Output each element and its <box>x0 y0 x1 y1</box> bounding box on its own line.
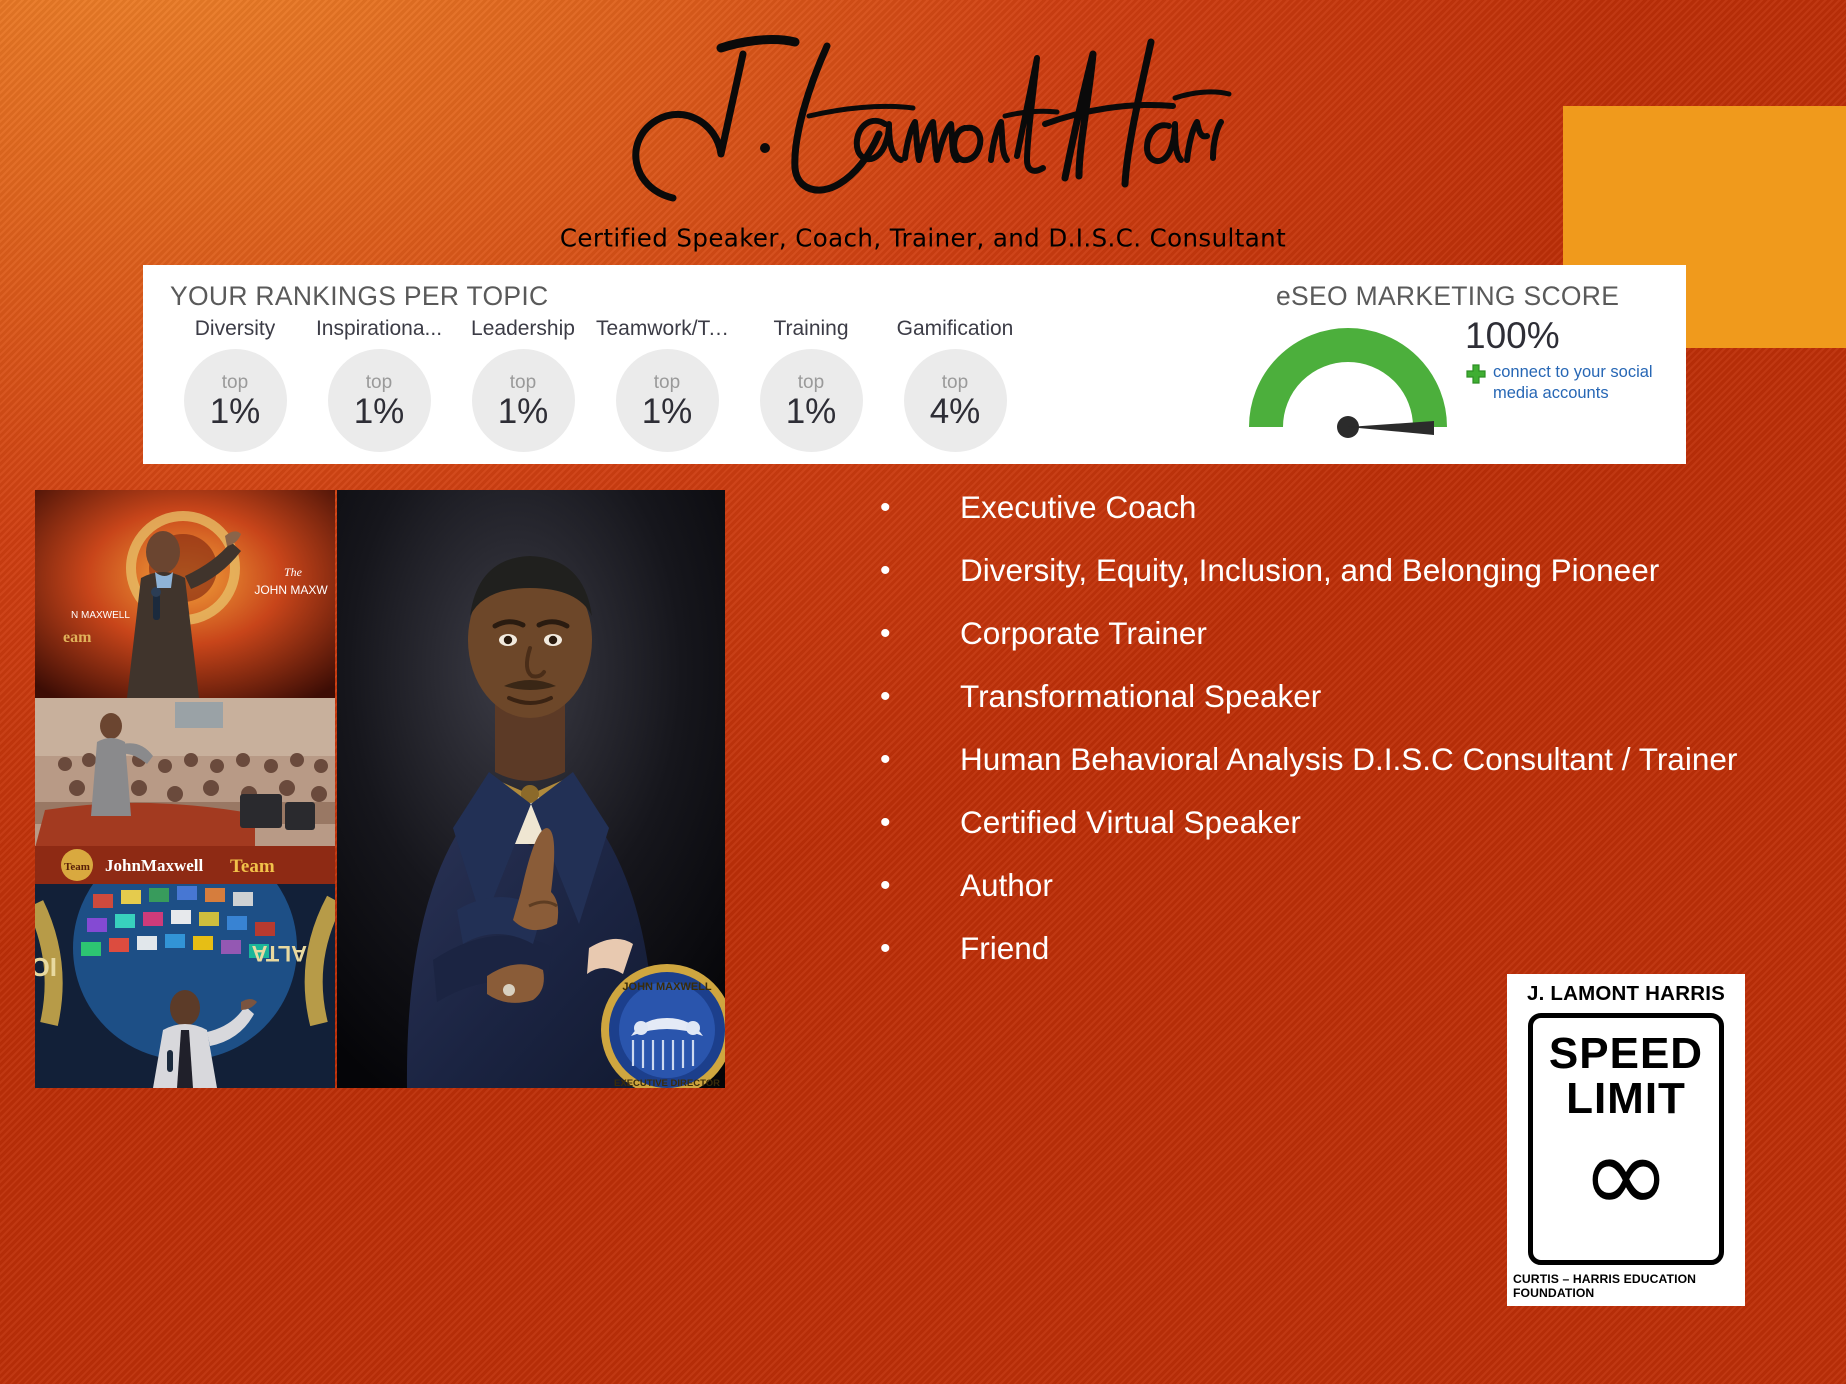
bullet-icon: • <box>880 730 960 789</box>
bullet-icon: • <box>880 919 960 978</box>
topic-value: 1% <box>786 394 837 429</box>
topic-prefix: top <box>222 373 248 392</box>
plus-icon <box>1465 364 1487 386</box>
header-subtitle: Certified Speaker, Coach, Trainer, and D… <box>560 224 1286 253</box>
infinity-icon: ∞ <box>1581 1126 1671 1225</box>
topic-prefix: top <box>798 373 824 392</box>
topic-label: Training <box>773 317 848 341</box>
topic-item[interactable]: Leadership top 1% <box>451 317 595 452</box>
list-item: • Diversity, Equity, Inclusion, and Belo… <box>880 541 1800 600</box>
topic-item[interactable]: Teamwork/Tea... top 1% <box>595 317 739 452</box>
bullet-icon: • <box>880 793 960 852</box>
topic-score-bubble: top 1% <box>184 349 287 452</box>
bullet-icon: • <box>880 478 960 537</box>
portrait-photo: JOHN MAXWELL EXECUTIVE DIRECTOR <box>337 490 725 1088</box>
svg-text:JohnMaxwell: JohnMaxwell <box>105 856 204 875</box>
logo-name: J. LAMONT HARRIS <box>1527 982 1725 1006</box>
credential-label: Friend <box>960 919 1049 978</box>
signature-logo <box>613 28 1233 208</box>
topic-value: 1% <box>354 394 405 429</box>
topic-score-bubble: top 4% <box>904 349 1007 452</box>
credentials-list: • Executive Coach • Diversity, Equity, I… <box>880 478 1800 982</box>
topic-label: Gamification <box>897 317 1014 341</box>
svg-text:JOHN MAXW: JOHN MAXW <box>254 583 328 597</box>
list-item: • Transformational Speaker <box>880 667 1800 726</box>
svg-text:Team: Team <box>64 861 90 873</box>
credential-label: Author <box>960 856 1053 915</box>
topic-value: 4% <box>930 394 981 429</box>
topics-list: Diversity top 1% Inspirationa... top 1% … <box>163 317 1027 452</box>
svg-text:N MAXWELL: N MAXWELL <box>71 610 130 621</box>
speed-text: SPEED <box>1549 1032 1703 1076</box>
topic-item[interactable]: Inspirationa... top 1% <box>307 317 451 452</box>
credential-label: Certified Virtual Speaker <box>960 793 1301 852</box>
bullet-icon: • <box>880 604 960 663</box>
topic-prefix: top <box>510 373 536 392</box>
list-item: • Executive Coach <box>880 478 1800 537</box>
topic-prefix: top <box>654 373 680 392</box>
topic-label: Leadership <box>471 317 575 341</box>
seo-score-percent: 100% <box>1465 317 1655 356</box>
list-item: • Corporate Trainer <box>880 604 1800 663</box>
header: Certified Speaker, Coach, Trainer, and D… <box>0 0 1846 260</box>
bullet-icon: • <box>880 667 960 726</box>
list-item: • Human Behavioral Analysis D.I.S.C Cons… <box>880 730 1800 789</box>
svg-text:The: The <box>284 565 303 579</box>
speed-limit-sign: SPEED LIMIT ∞ <box>1528 1013 1724 1265</box>
topic-value: 1% <box>498 394 549 429</box>
topic-prefix: top <box>942 373 968 392</box>
speed-limit-logo: J. LAMONT HARRIS SPEED LIMIT ∞ CURTIS – … <box>1507 974 1745 1306</box>
svg-text:ICTO: ICTO <box>35 952 57 982</box>
topic-item[interactable]: Training top 1% <box>739 317 883 452</box>
svg-text:eam: eam <box>63 629 92 646</box>
topic-label: Diversity <box>195 317 276 341</box>
rankings-title: YOUR RANKINGS PER TOPIC <box>170 281 548 312</box>
list-item: • Friend <box>880 919 1800 978</box>
topic-score-bubble: top 1% <box>616 349 719 452</box>
seo-gauge <box>1248 315 1448 445</box>
credential-label: Transformational Speaker <box>960 667 1321 726</box>
svg-text:Team: Team <box>230 856 275 877</box>
bullet-icon: • <box>880 856 960 915</box>
rankings-panel: YOUR RANKINGS PER TOPIC eSEO MARKETING S… <box>143 265 1686 464</box>
svg-text:JOHN MAXWELL: JOHN MAXWELL <box>622 981 712 993</box>
svg-text:ALTA: ALTA <box>252 941 307 966</box>
topic-item[interactable]: Diversity top 1% <box>163 317 307 452</box>
seo-score-details: 100% connect to your social media accoun… <box>1465 317 1655 403</box>
svg-text:EXECUTIVE DIRECTOR: EXECUTIVE DIRECTOR <box>614 1078 720 1088</box>
topic-label: Teamwork/Tea... <box>596 317 738 341</box>
list-item: • Certified Virtual Speaker <box>880 793 1800 852</box>
connect-social-label: connect to your social media accounts <box>1493 362 1655 404</box>
credential-label: Corporate Trainer <box>960 604 1207 663</box>
topic-prefix: top <box>366 373 392 392</box>
bullet-icon: • <box>880 541 960 600</box>
foundation-label: CURTIS – HARRIS EDUCATION FOUNDATION <box>1513 1272 1739 1300</box>
topic-score-bubble: top 1% <box>328 349 431 452</box>
connect-social-link[interactable]: connect to your social media accounts <box>1465 362 1655 404</box>
globe-flags-photo: ICTO ALTA <box>35 884 335 1088</box>
conference-audience-photo: Team JohnMaxwell Team <box>35 698 335 884</box>
topic-value: 1% <box>642 394 693 429</box>
topic-score-bubble: top 1% <box>760 349 863 452</box>
stage-speaking-photo: The JOHN MAXW N MAXWELL eam <box>35 490 335 698</box>
collage-left-column: The JOHN MAXW N MAXWELL eam <box>35 490 335 1088</box>
credential-label: Diversity, Equity, Inclusion, and Belong… <box>960 541 1659 600</box>
photo-collage: The JOHN MAXW N MAXWELL eam <box>35 490 725 1088</box>
topic-item[interactable]: Gamification top 4% <box>883 317 1027 452</box>
topic-value: 1% <box>210 394 261 429</box>
seo-score-title: eSEO MARKETING SCORE <box>1276 281 1619 312</box>
topic-score-bubble: top 1% <box>472 349 575 452</box>
list-item: • Author <box>880 856 1800 915</box>
topic-label: Inspirationa... <box>316 317 442 341</box>
credential-label: Executive Coach <box>960 478 1196 537</box>
credential-label: Human Behavioral Analysis D.I.S.C Consul… <box>960 730 1737 789</box>
